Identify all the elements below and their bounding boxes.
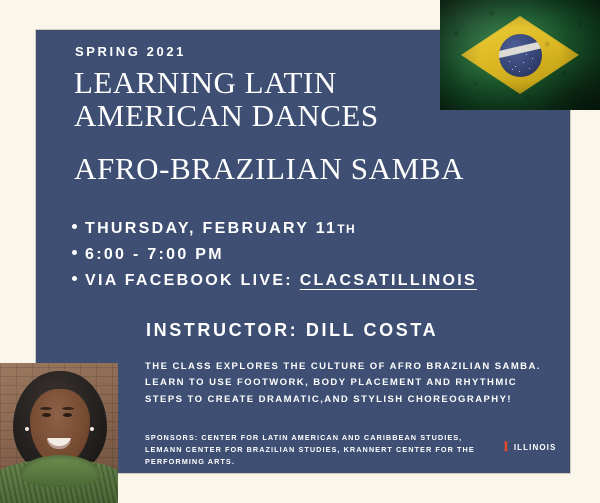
list-item: THURSDAY, FEBRUARY 11TH: [72, 216, 477, 242]
headline-line-1: LEARNING LATIN: [74, 66, 474, 99]
facebook-handle-link[interactable]: CLACSATILLINOIS: [300, 272, 477, 289]
list-item: 6:00 - 7:00 PM: [72, 242, 477, 268]
bullet-dot-icon: [72, 224, 77, 229]
list-item: VIA FACEBOOK LIVE: CLACSATILLINOIS: [72, 268, 477, 294]
headline-line-2: AMERICAN DANCES: [74, 99, 474, 132]
bullet-dot-icon: [72, 276, 77, 281]
bullet-dot-icon: [72, 250, 77, 255]
detail-text: 6:00 - 7:00 PM: [85, 246, 224, 263]
poster-text-content: SPRING 2021 LEARNING LATIN AMERICAN DANC…: [0, 0, 600, 503]
illinois-logo: I ILLINOIS: [503, 440, 556, 455]
class-description: THE CLASS EXPLORES THE CULTURE OF AFRO B…: [145, 359, 545, 408]
detail-text: VIA FACEBOOK LIVE:: [85, 272, 300, 289]
instructor-label: INSTRUCTOR: DILL COSTA: [146, 320, 438, 341]
detail-ordinal: TH: [337, 222, 356, 236]
detail-text: THURSDAY, FEBRUARY 11: [85, 220, 337, 237]
page-subtitle: AFRO-BRAZILIAN SAMBA: [74, 151, 464, 187]
illinois-wordmark: ILLINOIS: [514, 443, 557, 452]
page-title: LEARNING LATIN AMERICAN DANCES: [74, 66, 474, 132]
sponsors-text: SPONSORS: CENTER FOR LATIN AMERICAN AND …: [145, 432, 475, 467]
poster-canvas: SPRING 2021 LEARNING LATIN AMERICAN DANC…: [0, 0, 600, 503]
season-label: SPRING 2021: [75, 44, 186, 59]
event-details-list: THURSDAY, FEBRUARY 11TH 6:00 - 7:00 PM V…: [72, 216, 477, 294]
illinois-block-i-icon: I: [503, 440, 509, 455]
